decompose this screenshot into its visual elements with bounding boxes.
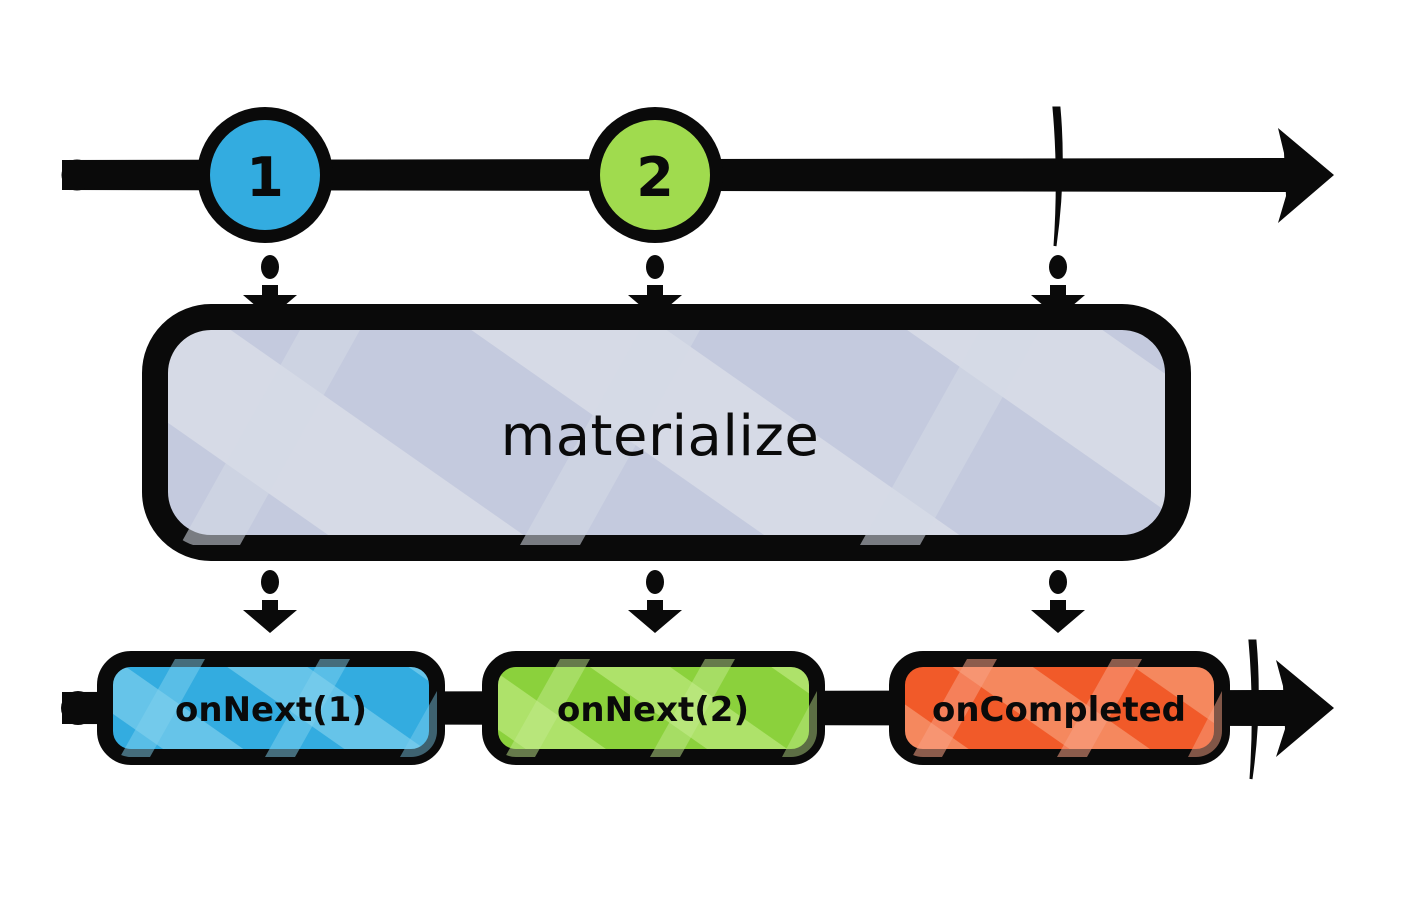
notification-pill-onnext-1[interactable]: onNext(1) bbox=[105, 659, 437, 757]
output-line-left-cap bbox=[61, 691, 95, 725]
projection-arrow-down-icon bbox=[1031, 570, 1085, 633]
source-line-left-cap bbox=[62, 160, 93, 191]
operator-box[interactable]: materialize bbox=[155, 317, 1178, 548]
output-timeline: onNext(1) onNext(2) bbox=[61, 641, 1334, 779]
notification-pill-label: onCompleted bbox=[932, 690, 1186, 730]
source-marble-2[interactable]: 2 bbox=[587, 107, 723, 243]
projection-arrow-down-icon bbox=[628, 570, 682, 633]
source-timeline-arrowhead bbox=[1278, 128, 1334, 223]
notification-pill-label: onNext(1) bbox=[175, 690, 367, 730]
operator-box-label: materialize bbox=[501, 404, 820, 469]
source-marble-1-label: 1 bbox=[246, 146, 284, 209]
lower-projection-arrows bbox=[243, 570, 1085, 633]
marble-diagram: 1 2 bbox=[0, 0, 1401, 901]
notification-pill-label: onNext(2) bbox=[557, 690, 749, 730]
notification-pill-onnext-2[interactable]: onNext(2) bbox=[490, 659, 817, 757]
source-timeline: 1 2 bbox=[62, 107, 1335, 246]
source-marble-2-label: 2 bbox=[636, 146, 674, 209]
source-marble-1[interactable]: 1 bbox=[197, 107, 333, 243]
output-timeline-arrowhead bbox=[1276, 660, 1334, 757]
projection-arrow-down-icon bbox=[243, 570, 297, 633]
diagram-canvas: 1 2 bbox=[0, 0, 1401, 901]
notification-pill-oncompleted[interactable]: onCompleted bbox=[897, 659, 1222, 757]
